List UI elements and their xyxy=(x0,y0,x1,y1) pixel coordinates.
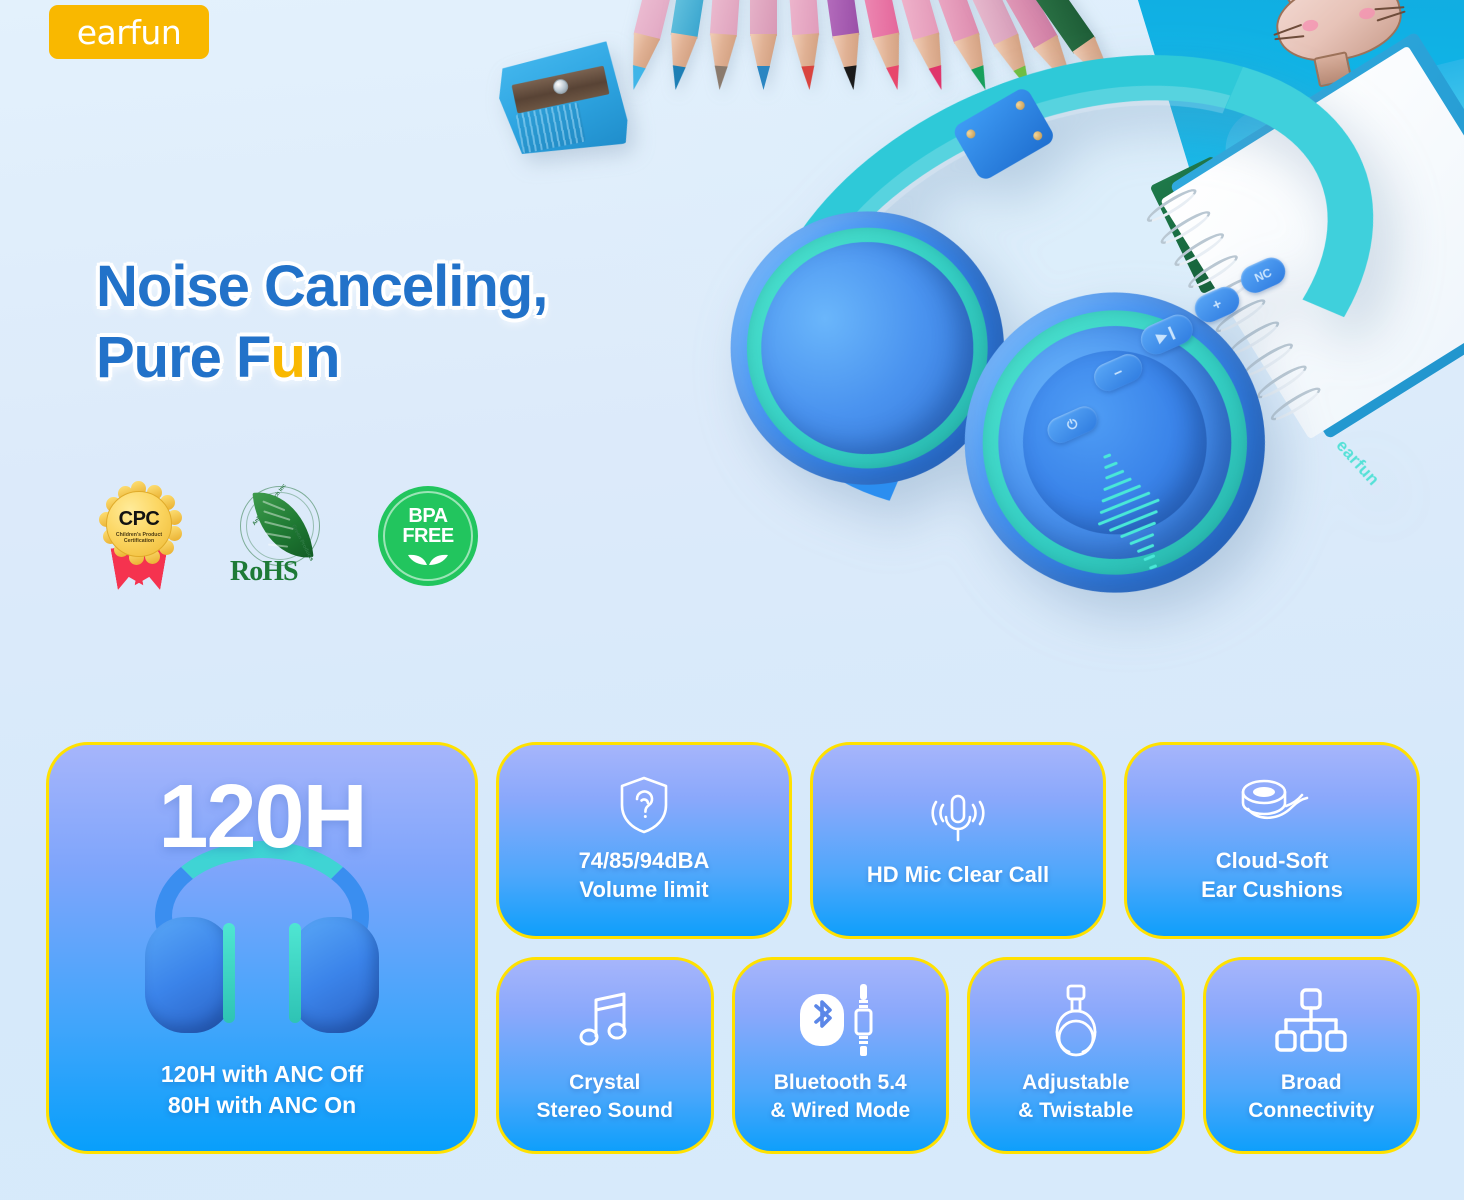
label-line-2: Connectivity xyxy=(1248,1097,1374,1124)
label-line-2: Volume limit xyxy=(579,876,710,905)
label-line-2: Stereo Sound xyxy=(536,1097,673,1124)
feature-card-volume-limit[interactable]: 74/85/94dBA Volume limit xyxy=(496,742,792,939)
headline-accent-letter: u xyxy=(271,325,305,390)
feature-card-connectivity[interactable]: Broad Connectivity xyxy=(1203,957,1421,1154)
label-line-1: Bluetooth 5.4 xyxy=(770,1069,910,1096)
feature-label-hd-mic: HD Mic Clear Call xyxy=(867,861,1049,890)
battery-hours-label: 120H xyxy=(158,777,365,858)
bluetooth-jack-icon xyxy=(794,983,886,1059)
headline-line-2: Pure Fun xyxy=(96,323,547,394)
feature-grid: 120H 120H with ANC Off 80H with ANC On xyxy=(46,742,1420,1154)
rohs-label: RoHS xyxy=(230,556,334,588)
ear-cushion-icon xyxy=(1234,773,1310,837)
label-line-2: & Twistable xyxy=(1018,1097,1133,1124)
headphone-adjust-icon xyxy=(1045,983,1107,1059)
label-line-1: Cloud-Soft xyxy=(1201,847,1343,876)
headphones-illustration xyxy=(137,841,387,1041)
label-line-1: HD Mic Clear Call xyxy=(867,861,1049,890)
battery-caption-line-2: 80H with ANC On xyxy=(49,1090,475,1121)
feature-cards-column: 74/85/94dBA Volume limit xyxy=(496,742,1420,1154)
label-line-2: Ear Cushions xyxy=(1201,876,1343,905)
label-line-1: Adjustable xyxy=(1018,1069,1133,1096)
cpc-label: CPC xyxy=(119,508,160,531)
label-line-1: Broad xyxy=(1248,1069,1374,1096)
music-note-icon xyxy=(576,983,634,1059)
feature-label-bluetooth-wired: Bluetooth 5.4 & Wired Mode xyxy=(770,1069,910,1124)
headband-brand-label: earfun xyxy=(1332,436,1384,490)
label-line-2: & Wired Mode xyxy=(770,1097,910,1124)
feature-card-adjustable[interactable]: Adjustable & Twistable xyxy=(967,957,1185,1154)
battery-caption: 120H with ANC Off 80H with ANC On xyxy=(49,1059,475,1121)
feature-label-ear-cushions: Cloud-Soft Ear Cushions xyxy=(1201,847,1343,904)
feature-label-connectivity: Broad Connectivity xyxy=(1248,1069,1374,1124)
feature-label-volume-limit: 74/85/94dBA Volume limit xyxy=(579,847,710,904)
feature-card-hd-mic[interactable]: HD Mic Clear Call xyxy=(810,742,1106,939)
product-banner: ⏻ − ▶❙ + NC earfun xyxy=(0,0,1464,1200)
headline-line-1: Noise Canceling, xyxy=(96,252,547,323)
feature-cards-top-row: 74/85/94dBA Volume limit xyxy=(496,742,1420,939)
cpc-sublabel: Children's Product Certification xyxy=(111,533,167,544)
microphone-icon xyxy=(926,787,990,851)
label-line-1: Crystal xyxy=(536,1069,673,1096)
rohs-badge: AnDal Bodytech Inc Green Products RoHS xyxy=(228,484,332,588)
feature-label-adjustable: Adjustable & Twistable xyxy=(1018,1069,1133,1124)
logo-text: earfun xyxy=(77,16,182,49)
bpa-free-badge: BPA FREE xyxy=(378,486,478,586)
cpc-badge: CPC Children's Product Certification xyxy=(96,484,182,588)
headline-line-2-post: n xyxy=(305,325,339,390)
earfun-logo: earfun xyxy=(49,5,209,59)
feature-label-stereo-sound: Crystal Stereo Sound xyxy=(536,1069,673,1124)
cpc-disc: CPC Children's Product Certification xyxy=(106,491,172,557)
page-title: Noise Canceling, Pure Fun xyxy=(96,252,547,394)
network-nodes-icon xyxy=(1274,983,1348,1059)
feature-card-stereo-sound[interactable]: Crystal Stereo Sound xyxy=(496,957,714,1154)
certification-badges: CPC Children's Product Certification AnD… xyxy=(96,484,478,588)
label-line-1: 74/85/94dBA xyxy=(579,847,710,876)
shield-ear-icon xyxy=(618,773,670,837)
hero-headphones-photo: ⏻ − ▶❙ + NC earfun xyxy=(681,20,1464,740)
headline-line-2-pre: Pure F xyxy=(96,325,271,390)
feature-cards-bottom-row: Crystal Stereo Sound xyxy=(496,957,1420,1154)
battery-life-card[interactable]: 120H 120H with ANC Off 80H with ANC On xyxy=(46,742,478,1154)
feature-card-bluetooth-wired[interactable]: Bluetooth 5.4 & Wired Mode xyxy=(732,957,950,1154)
battery-caption-line-1: 120H with ANC Off xyxy=(49,1059,475,1090)
feature-card-ear-cushions[interactable]: Cloud-Soft Ear Cushions xyxy=(1124,742,1420,939)
